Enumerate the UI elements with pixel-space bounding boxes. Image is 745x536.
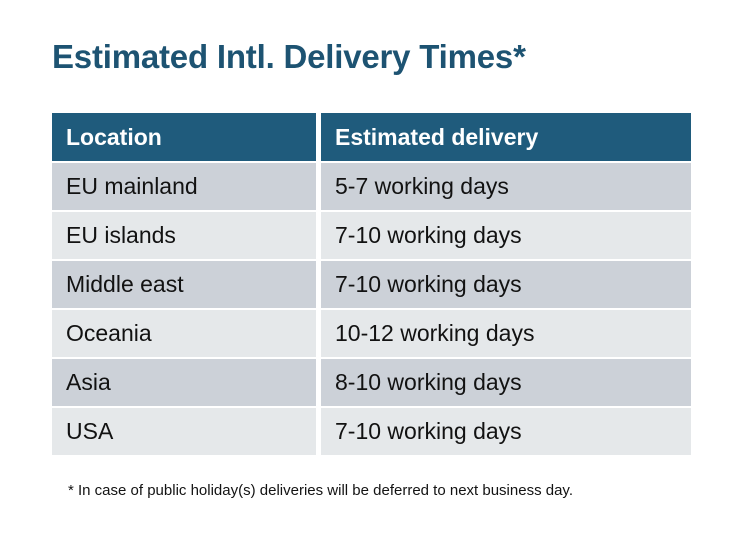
cell-estimated-delivery: 7-10 working days xyxy=(321,408,691,455)
table-row: Oceania 10-12 working days xyxy=(52,310,691,357)
cell-location: Middle east xyxy=(52,261,316,308)
column-header-estimated-delivery: Estimated delivery xyxy=(321,113,691,161)
cell-estimated-delivery: 5-7 working days xyxy=(321,163,691,210)
cell-location: EU mainland xyxy=(52,163,316,210)
cell-location: EU islands xyxy=(52,212,316,259)
column-header-location: Location xyxy=(52,113,316,161)
table-row: EU islands 7-10 working days xyxy=(52,212,691,259)
table-header-row: Location Estimated delivery xyxy=(52,113,691,161)
table-row: EU mainland 5-7 working days xyxy=(52,163,691,210)
cell-estimated-delivery: 8-10 working days xyxy=(321,359,691,406)
table-row: USA 7-10 working days xyxy=(52,408,691,455)
page-title: Estimated Intl. Delivery Times* xyxy=(52,36,526,78)
table-row: Middle east 7-10 working days xyxy=(52,261,691,308)
footnote: * In case of public holiday(s) deliverie… xyxy=(68,481,573,501)
delivery-times-card: Estimated Intl. Delivery Times* Location… xyxy=(0,0,745,536)
cell-location: Asia xyxy=(52,359,316,406)
cell-estimated-delivery: 7-10 working days xyxy=(321,261,691,308)
cell-location: Oceania xyxy=(52,310,316,357)
cell-estimated-delivery: 10-12 working days xyxy=(321,310,691,357)
table-row: Asia 8-10 working days xyxy=(52,359,691,406)
delivery-times-table: Location Estimated delivery EU mainland … xyxy=(52,113,691,455)
cell-estimated-delivery: 7-10 working days xyxy=(321,212,691,259)
cell-location: USA xyxy=(52,408,316,455)
